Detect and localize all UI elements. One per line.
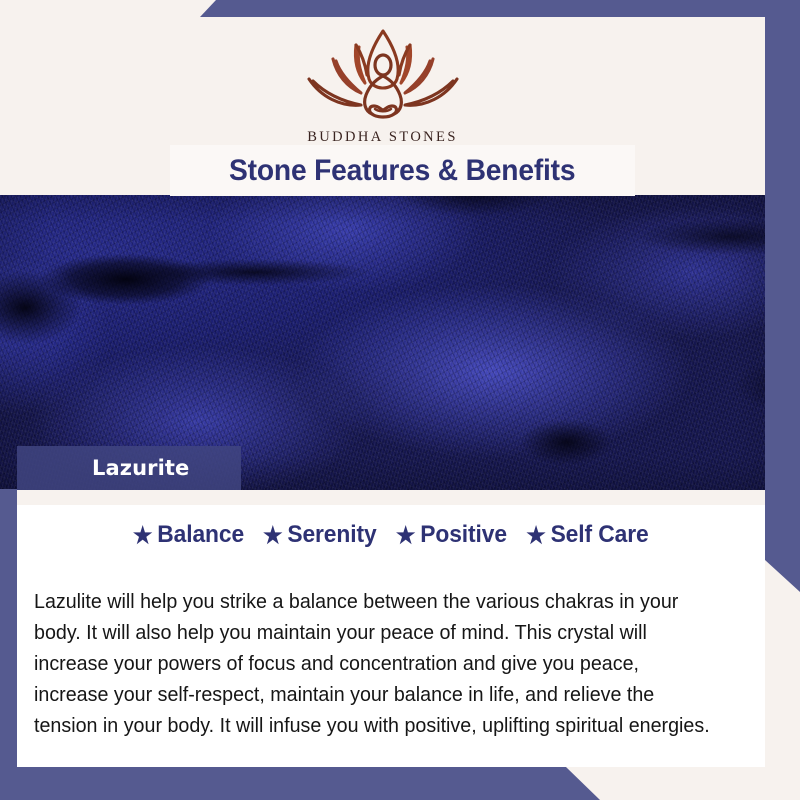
stone-name-tab: Lazurite [17,446,241,490]
benefit-label: Serenity [288,521,377,549]
brand-wordmark: BUDDHA STONES [0,129,765,146]
page-title: Stone Features & Benefits [229,154,575,188]
stone-info-poster: BUDDHA STONES Stone Features & Benefits … [0,0,800,800]
decor-band-left [0,489,17,800]
decor-band-right [765,0,800,592]
benefit-label: Balance [158,521,245,549]
panel-top-cream-strip [17,490,765,505]
description-panel: ★ Balance ★ Serenity ★ Positive ★ Self C… [17,490,765,767]
benefit-item: ★ Serenity [263,521,377,549]
benefit-item: ★ Balance [133,521,244,549]
star-icon: ★ [133,524,153,547]
star-icon: ★ [263,524,283,547]
benefit-label: Self Care [550,521,648,549]
star-icon: ★ [396,524,416,547]
benefits-row: ★ Balance ★ Serenity ★ Positive ★ Self C… [17,521,765,549]
benefit-item: ★ Positive [396,521,507,549]
stone-description-text: Lazulite will help you strike a balance … [34,586,718,741]
stone-name-label: Lazurite [92,456,189,480]
benefit-item: ★ Self Care [526,521,648,549]
lotus-meditation-icon [297,23,469,127]
page-title-plate: Stone Features & Benefits [170,145,635,196]
decor-band-top [0,0,800,17]
benefit-label: Positive [420,521,507,549]
star-icon: ★ [526,524,546,547]
brand-logo: BUDDHA STONES [0,23,765,146]
